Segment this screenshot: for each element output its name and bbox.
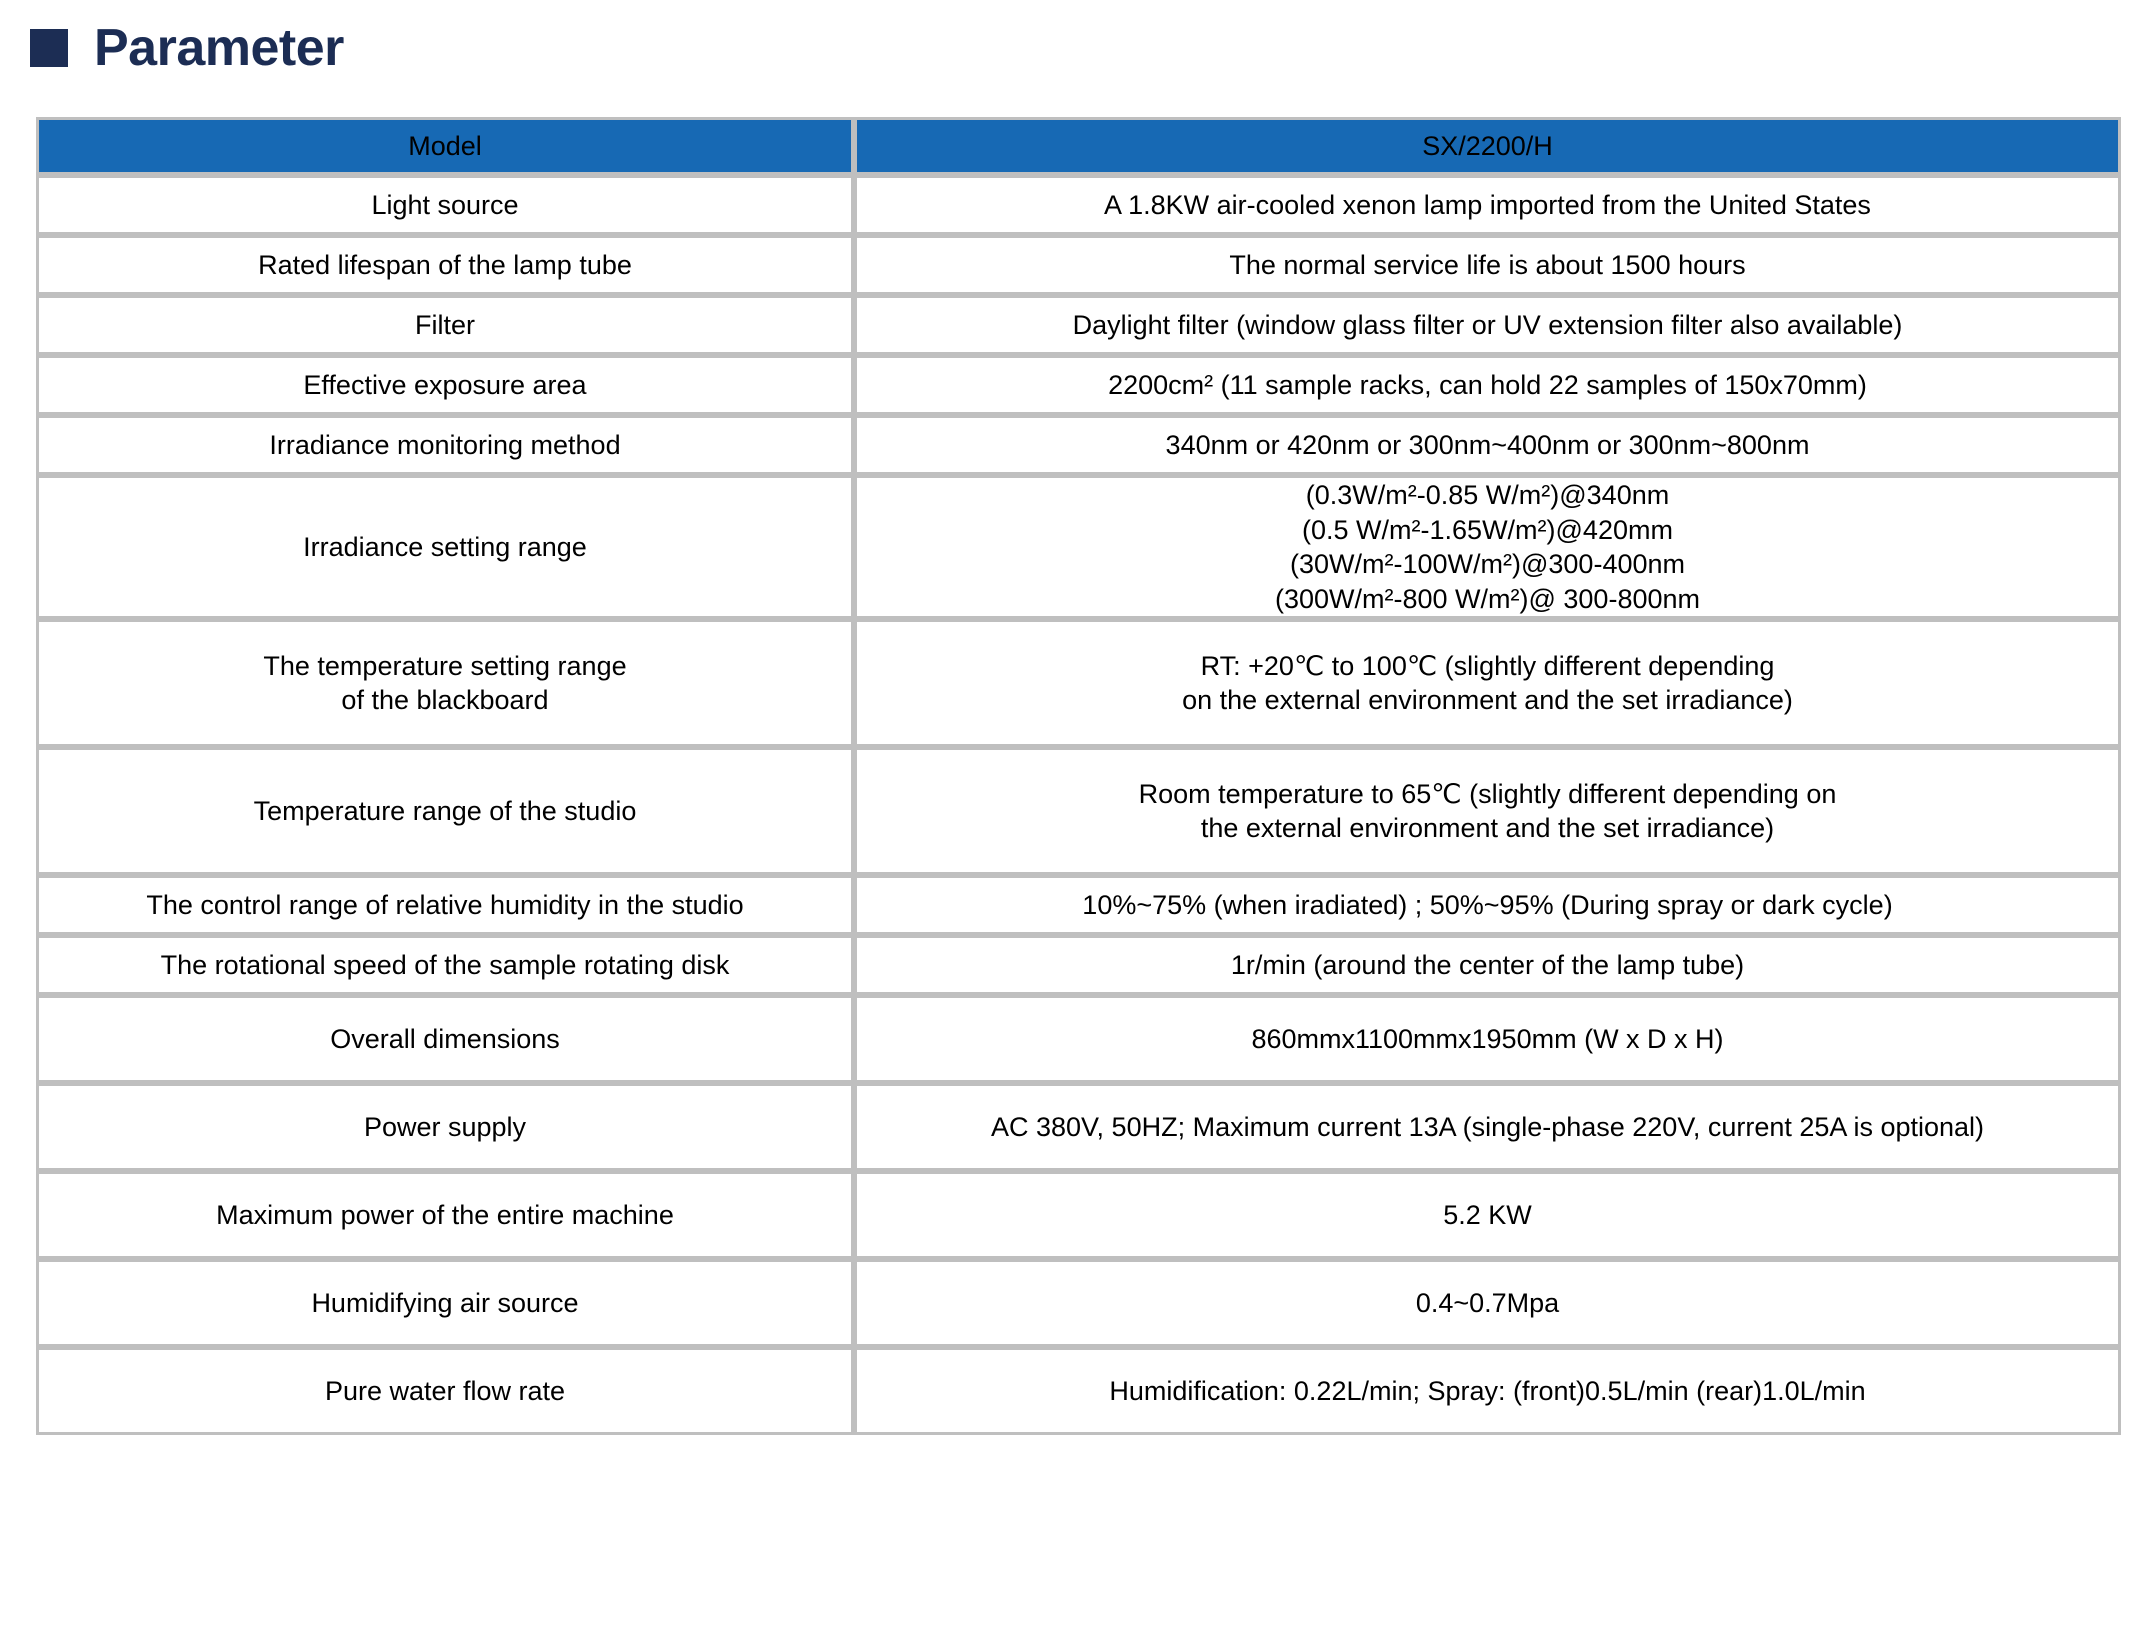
row-value: A 1.8KW air-cooled xenon lamp imported f… [854,175,2121,235]
table-row: Overall dimensions 860mmx1100mmx1950mm (… [36,995,2121,1083]
page-title-block: Parameter [30,22,344,74]
table-row: Light source A 1.8KW air-cooled xenon la… [36,175,2121,235]
table-row: Pure water flow rate Humidification: 0.2… [36,1347,2121,1435]
table-row: Rated lifespan of the lamp tube The norm… [36,235,2121,295]
row-label: Rated lifespan of the lamp tube [36,235,854,295]
parameter-table: Model SX/2200/H Light source A 1.8KW air… [36,117,2121,1435]
row-value: 860mmx1100mmx1950mm (W x D x H) [854,995,2121,1083]
table-row: Humidifying air source 0.4~0.7Mpa [36,1259,2121,1347]
row-value: Daylight filter (window glass filter or … [854,295,2121,355]
column-header-value: SX/2200/H [854,117,2121,175]
row-label: Filter [36,295,854,355]
table-row: Irradiance monitoring method 340nm or 42… [36,415,2121,475]
row-value: AC 380V, 50HZ; Maximum current 13A (sing… [854,1083,2121,1171]
table-row: The rotational speed of the sample rotat… [36,935,2121,995]
table-row: Filter Daylight filter (window glass fil… [36,295,2121,355]
row-label: Light source [36,175,854,235]
row-value: 5.2 KW [854,1171,2121,1259]
table-row: Temperature range of the studio Room tem… [36,747,2121,875]
row-label: Irradiance monitoring method [36,415,854,475]
row-label: The control range of relative humidity i… [36,875,854,935]
table-row: Maximum power of the entire machine 5.2 … [36,1171,2121,1259]
square-bullet-icon [30,29,68,67]
row-value: 2200cm² (11 sample racks, can hold 22 sa… [854,355,2121,415]
row-label: Power supply [36,1083,854,1171]
row-label: Effective exposure area [36,355,854,415]
row-value: The normal service life is about 1500 ho… [854,235,2121,295]
row-label: Overall dimensions [36,995,854,1083]
row-value: 10%~75% (when iradiated) ; 50%~95% (Duri… [854,875,2121,935]
table-header: Model SX/2200/H [36,117,2121,175]
row-label: Pure water flow rate [36,1347,854,1435]
row-value: (0.3W/m²-0.85 W/m²)@340nm (0.5 W/m²-1.65… [854,475,2121,619]
table-row: Effective exposure area 2200cm² (11 samp… [36,355,2121,415]
row-label: Maximum power of the entire machine [36,1171,854,1259]
row-label: Temperature range of the studio [36,747,854,875]
table-row: Irradiance setting range (0.3W/m²-0.85 W… [36,475,2121,619]
table-body: Light source A 1.8KW air-cooled xenon la… [36,175,2121,1435]
row-value: 1r/min (around the center of the lamp tu… [854,935,2121,995]
row-label: Humidifying air source [36,1259,854,1347]
table-row: The control range of relative humidity i… [36,875,2121,935]
page-title: Parameter [94,22,344,74]
table-row: Power supply AC 380V, 50HZ; Maximum curr… [36,1083,2121,1171]
column-header-model: Model [36,117,854,175]
row-value: Humidification: 0.22L/min; Spray: (front… [854,1347,2121,1435]
row-value: RT: +20℃ to 100℃ (slightly different dep… [854,619,2121,747]
table-header-row: Model SX/2200/H [36,117,2121,175]
row-label: The temperature setting range of the bla… [36,619,854,747]
row-label: Irradiance setting range [36,475,854,619]
table-row: The temperature setting range of the bla… [36,619,2121,747]
row-value: 340nm or 420nm or 300nm~400nm or 300nm~8… [854,415,2121,475]
row-label: The rotational speed of the sample rotat… [36,935,854,995]
row-value: Room temperature to 65℃ (slightly differ… [854,747,2121,875]
row-value: 0.4~0.7Mpa [854,1259,2121,1347]
